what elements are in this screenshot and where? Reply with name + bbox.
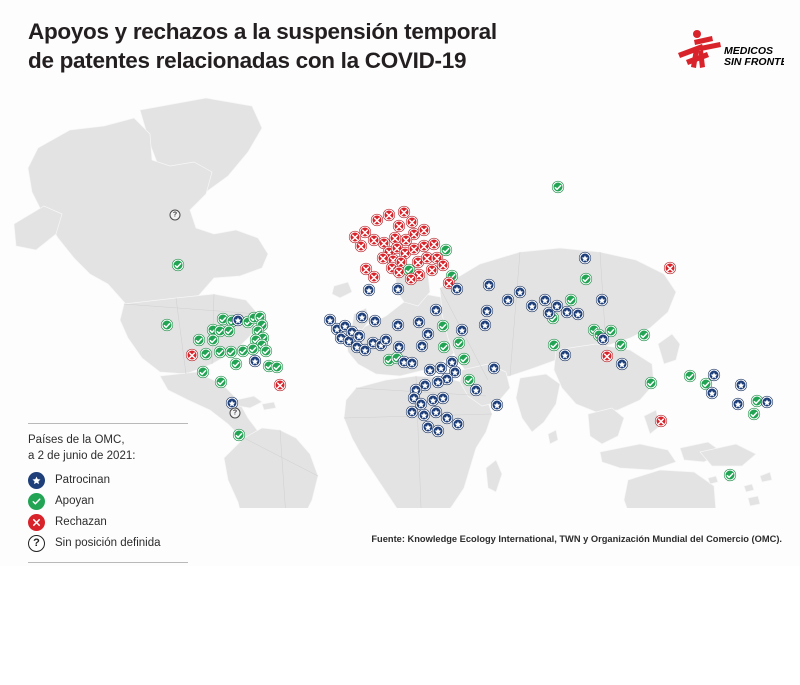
star-icon bbox=[28, 472, 45, 489]
marker-apoyan[interactable] bbox=[549, 340, 560, 351]
marker-rechazan[interactable] bbox=[275, 380, 286, 391]
question-icon: ? bbox=[28, 535, 45, 552]
marker-patrocinan[interactable] bbox=[433, 426, 444, 437]
legend-item-apoyan[interactable]: Apoyan bbox=[28, 491, 188, 512]
marker-patrocinan[interactable] bbox=[503, 295, 514, 306]
legend-top-divider bbox=[28, 423, 188, 424]
legend-heading-line-1: Países de la OMC, bbox=[28, 433, 188, 449]
map-legend: Países de la OMC, a 2 de junio de 2021: … bbox=[28, 423, 188, 563]
source-note: Fuente: Knowledge Ecology International,… bbox=[371, 534, 782, 544]
legend-heading: Países de la OMC, a 2 de junio de 2021: bbox=[28, 433, 188, 465]
marker-patrocinan[interactable] bbox=[707, 388, 718, 399]
legend-label-rechazan: Rechazan bbox=[55, 516, 107, 528]
x-icon bbox=[28, 514, 45, 531]
legend-label-apoyan: Apoyan bbox=[55, 495, 94, 507]
marker-patrocinan[interactable] bbox=[762, 397, 773, 408]
marker-patrocinan[interactable] bbox=[573, 309, 584, 320]
marker-rechazan[interactable] bbox=[656, 416, 667, 427]
marker-apoyan[interactable] bbox=[646, 378, 657, 389]
marker-apoyan[interactable] bbox=[616, 340, 627, 351]
marker-apoyan[interactable] bbox=[198, 367, 209, 378]
page-title: Apoyos y rechazos a la suspensión tempor… bbox=[28, 18, 588, 76]
legend-label-sin-posicion: Sin posición definida bbox=[55, 537, 161, 549]
logo-text-line-2: SIN FRONTERAS bbox=[724, 56, 784, 68]
check-icon bbox=[28, 493, 45, 510]
marker-apoyan[interactable] bbox=[725, 470, 736, 481]
marker-apoyan[interactable] bbox=[162, 320, 173, 331]
marker-patrocinan[interactable] bbox=[492, 400, 503, 411]
msf-running-figure-icon bbox=[678, 30, 721, 68]
marker-patrocinan[interactable] bbox=[560, 350, 571, 361]
marker-rechazan[interactable] bbox=[602, 351, 613, 362]
marker-apoyan[interactable] bbox=[749, 409, 760, 420]
marker-patrocinan[interactable] bbox=[453, 419, 464, 430]
legend-item-patrocinan[interactable]: Patrocinan bbox=[28, 470, 188, 491]
title-line-2: de patentes relacionadas con la COVID-19 bbox=[28, 47, 588, 76]
marker-apoyan[interactable] bbox=[173, 260, 184, 271]
marker-patrocinan[interactable] bbox=[515, 287, 526, 298]
marker-patrocinan[interactable] bbox=[442, 413, 453, 424]
marker-patrocinan[interactable] bbox=[482, 306, 493, 317]
msf-logo: MEDICOS SIN FRONTERAS bbox=[664, 22, 784, 78]
marker-apoyan[interactable] bbox=[216, 377, 227, 388]
marker-patrocinan[interactable] bbox=[407, 407, 418, 418]
marker-patrocinan[interactable] bbox=[393, 320, 404, 331]
legend-bottom-divider bbox=[28, 562, 188, 563]
marker-apoyan[interactable] bbox=[685, 371, 696, 382]
marker-patrocinan[interactable] bbox=[527, 301, 538, 312]
legend-heading-line-2: a 2 de junio de 2021: bbox=[28, 449, 188, 465]
legend-label-patrocinan: Patrocinan bbox=[55, 474, 110, 486]
marker-rechazan[interactable] bbox=[665, 263, 676, 274]
legend-item-sin-posicion[interactable]: ? Sin posición definida bbox=[28, 533, 188, 554]
infographic-root: Apoyos y rechazos a la suspensión tempor… bbox=[0, 0, 800, 566]
marker-patrocinan[interactable] bbox=[250, 356, 261, 367]
legend-item-rechazan[interactable]: Rechazan bbox=[28, 512, 188, 533]
marker-patrocinan[interactable] bbox=[357, 312, 368, 323]
marker-apoyan[interactable] bbox=[234, 430, 245, 441]
